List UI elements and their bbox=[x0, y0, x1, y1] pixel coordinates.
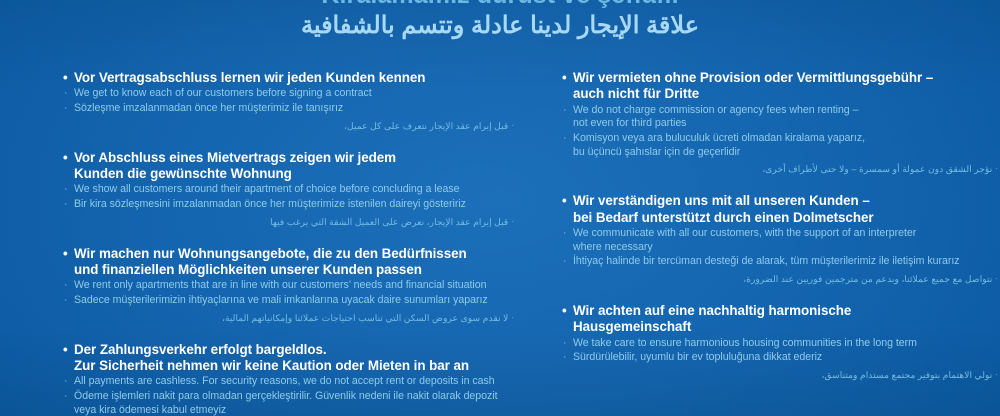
headline-line-1: Wir vermieten ohne Provision oder Vermit… bbox=[573, 70, 933, 85]
bullet-small-icon: · bbox=[64, 294, 68, 308]
arabic-line: نتواصل مع جميع عملائنا، وبدعم من مترجمين… bbox=[743, 274, 992, 284]
bullet-block: • Der Zahlungsverkehr erfolgt bargeldlos… bbox=[62, 342, 516, 416]
content-columns: • Vor Vertragsabschluss lernen wir jeden… bbox=[0, 70, 1000, 416]
english-line-1: We rent only apartments that are in line… bbox=[74, 279, 486, 291]
bullet-small-icon: · bbox=[563, 227, 567, 241]
bullet-subline-turkish: · Komisyon veya ara buluculuk ücreti olm… bbox=[561, 132, 1000, 159]
turkish-line-2: bu üçüncü şahıslar için de geçerlidir bbox=[573, 146, 1000, 160]
bullet-subline-turkish: · Sadece müşterilerimizin ihtiyaçlarına … bbox=[62, 294, 516, 308]
bullet-icon: • bbox=[63, 246, 68, 262]
bullet-small-icon: · bbox=[511, 313, 514, 322]
bullet-small-icon: · bbox=[64, 375, 68, 389]
arabic-line: لا نقدم سوى عروض السكن التي تناسب احتياج… bbox=[222, 313, 508, 323]
turkish-line-2: veya kira ödemesi kabul etmeyiz bbox=[74, 404, 516, 416]
english-line-1: We do not charge commission or agency fe… bbox=[573, 104, 858, 116]
bullet-headline: • Wir machen nur Wohnungsangebote, die z… bbox=[62, 246, 516, 279]
headline-line-1: Vor Abschluss eines Mietvertrags zeigen … bbox=[74, 150, 396, 165]
english-line-1: We communicate with all our customers, w… bbox=[573, 227, 916, 239]
slide-title-arabic: علاقة الإيجار لدينا عادلة وتتسم بالشفافي… bbox=[0, 11, 1000, 41]
headline-line-1: Wir verständigen uns mit all unseren Kun… bbox=[573, 193, 870, 208]
bullet-block: • Vor Vertragsabschluss lernen wir jeden… bbox=[62, 70, 516, 133]
bullet-subline-english: · We get to know each of our customers b… bbox=[62, 87, 516, 101]
bullet-subline-turkish: · İhtiyaç halinde bir tercüman desteği d… bbox=[561, 255, 1000, 269]
bullet-headline: • Wir achten auf eine nachhaltig harmoni… bbox=[561, 303, 1000, 336]
bullet-subline-english: · We do not charge commission or agency … bbox=[561, 104, 1000, 131]
bullet-block: • Vor Abschluss eines Mietvertrags zeige… bbox=[62, 150, 516, 229]
bullet-subline-arabic: ·نؤجر الشقق دون عمولة أو سمسرة – ولا حتى… bbox=[561, 162, 1000, 176]
headline-line-2: Hausgemeinschaft bbox=[573, 319, 1000, 335]
headline-line-1: Vor Vertragsabschluss lernen wir jeden K… bbox=[74, 70, 425, 85]
bullet-small-icon: · bbox=[563, 351, 567, 365]
bullet-subline-arabic: ·نولي الاهتمام بتوفير مجتمع مستدام ومتنا… bbox=[561, 368, 1000, 382]
headline-line-2: auch nicht für Dritte bbox=[573, 86, 1000, 102]
slide-title: Kiralamamız dürüst ve şeffaflı علاقة الإ… bbox=[0, 0, 1000, 41]
presentation-slide: Kiralamamız dürüst ve şeffaflı علاقة الإ… bbox=[0, 0, 1000, 416]
bullet-icon: • bbox=[562, 303, 567, 319]
headline-line-2: Zur Sicherheit nehmen wir keine Kaution … bbox=[74, 358, 516, 374]
bullet-small-icon: · bbox=[563, 104, 567, 118]
bullet-subline-english: · We show all customers around their apa… bbox=[62, 183, 516, 197]
turkish-line-1: Sürdürülebilir, uyumlu bir ev topluluğun… bbox=[573, 351, 822, 363]
bullet-headline: • Vor Vertragsabschluss lernen wir jeden… bbox=[62, 70, 516, 86]
bullet-small-icon: · bbox=[563, 337, 567, 351]
bullet-icon: • bbox=[63, 150, 68, 166]
slide-title-turkish: Kiralamamız dürüst ve şeffaflı bbox=[0, 0, 1000, 9]
turkish-line-1: Bir kira sözleşmesini imzalanmadan önce … bbox=[74, 198, 466, 210]
turkish-line-1: Komisyon veya ara buluculuk ücreti olmad… bbox=[573, 132, 865, 144]
arabic-line: قبل إبرام عقد الإيجار نتعرف على كل عميل، bbox=[344, 121, 508, 131]
arabic-line: نؤجر الشقق دون عمولة أو سمسرة – ولا حتى … bbox=[762, 164, 992, 174]
bullet-subline-arabic: ·قبل إبرام عقد الإيجار، نعرض على العميل … bbox=[62, 215, 516, 229]
bullet-small-icon: · bbox=[64, 198, 68, 212]
bullet-headline: • Wir vermieten ohne Provision oder Verm… bbox=[561, 70, 1000, 103]
bullet-small-icon: · bbox=[511, 217, 514, 226]
bullet-subline-turkish: · Ödeme işlemleri nakit para olmadan ger… bbox=[62, 390, 516, 416]
english-line-1: We show all customers around their apart… bbox=[74, 183, 459, 195]
bullet-subline-turkish: · Sürdürülebilir, uyumlu bir ev topluluğ… bbox=[561, 351, 1000, 365]
bullet-headline: • Vor Abschluss eines Mietvertrags zeige… bbox=[62, 150, 516, 183]
bullet-headline: • Wir verständigen uns mit all unseren K… bbox=[561, 193, 1000, 226]
bullet-small-icon: · bbox=[995, 274, 998, 283]
bullet-small-icon: · bbox=[563, 255, 567, 269]
bullet-icon: • bbox=[63, 342, 68, 358]
english-line-2: where necessary bbox=[573, 241, 1000, 255]
bullet-small-icon: · bbox=[64, 390, 68, 404]
bullet-block: • Wir achten auf eine nachhaltig harmoni… bbox=[561, 303, 1000, 382]
turkish-line-1: İhtiyaç halinde bir tercüman desteği de … bbox=[573, 255, 960, 267]
bullet-small-icon: · bbox=[64, 87, 68, 101]
bullet-subline-english: · All payments are cashless. For securit… bbox=[62, 375, 516, 389]
bullet-subline-turkish: · Sözleşme imzalanmadan önce her müşteri… bbox=[62, 102, 516, 116]
bullet-subline-english: · We take care to ensure harmonious hous… bbox=[561, 337, 1000, 351]
bullet-small-icon: · bbox=[511, 121, 514, 130]
left-column: • Vor Vertragsabschluss lernen wir jeden… bbox=[62, 70, 516, 416]
headline-line-2: Kunden die gewünschte Wohnung bbox=[74, 166, 516, 182]
english-line-1: We get to know each of our customers bef… bbox=[74, 87, 372, 99]
bullet-subline-english: · We rent only apartments that are in li… bbox=[62, 279, 516, 293]
right-column: • Wir vermieten ohne Provision oder Verm… bbox=[561, 70, 1000, 416]
arabic-line: قبل إبرام عقد الإيجار، نعرض على العميل ا… bbox=[270, 217, 508, 227]
bullet-icon: • bbox=[562, 70, 567, 86]
arabic-line: نولي الاهتمام بتوفير مجتمع مستدام ومتناس… bbox=[821, 370, 992, 380]
bullet-subline-turkish: · Bir kira sözleşmesini imzalanmadan önc… bbox=[62, 198, 516, 212]
bullet-small-icon: · bbox=[563, 132, 567, 146]
bullet-small-icon: · bbox=[64, 279, 68, 293]
english-line-1: All payments are cashless. For security … bbox=[74, 375, 495, 387]
headline-line-1: Der Zahlungsverkehr erfolgt bargeldlos. bbox=[74, 342, 327, 357]
bullet-icon: • bbox=[63, 70, 68, 86]
bullet-subline-arabic: ·قبل إبرام عقد الإيجار نتعرف على كل عميل… bbox=[62, 119, 516, 133]
bullet-subline-arabic: ·لا نقدم سوى عروض السكن التي تناسب احتيا… bbox=[62, 311, 516, 325]
bullet-block: • Wir vermieten ohne Provision oder Verm… bbox=[561, 70, 1000, 176]
english-line-1: We take care to ensure harmonious housin… bbox=[573, 337, 917, 349]
bullet-subline-english: · We communicate with all our customers,… bbox=[561, 227, 1000, 254]
headline-line-2: bei Bedarf unterstützt durch einen Dolme… bbox=[573, 210, 1000, 226]
bullet-small-icon: · bbox=[995, 370, 998, 379]
bullet-block: • Wir verständigen uns mit all unseren K… bbox=[561, 193, 1000, 286]
headline-line-2: und finanziellen Möglichkeiten unserer K… bbox=[74, 262, 516, 278]
english-line-2: not even for third parties bbox=[573, 117, 1000, 131]
bullet-small-icon: · bbox=[64, 183, 68, 197]
turkish-line-1: Sözleşme imzalanmadan önce her müşterimi… bbox=[74, 102, 343, 114]
headline-line-1: Wir machen nur Wohnungsangebote, die zu … bbox=[74, 246, 467, 261]
turkish-line-1: Sadece müşterilerimizin ihtiyaçlarına ve… bbox=[74, 294, 488, 306]
bullet-icon: • bbox=[562, 193, 567, 209]
headline-line-1: Wir achten auf eine nachhaltig harmonisc… bbox=[573, 303, 851, 318]
bullet-small-icon: · bbox=[995, 164, 998, 173]
bullet-block: • Wir machen nur Wohnungsangebote, die z… bbox=[62, 246, 516, 325]
turkish-line-1: Ödeme işlemleri nakit para olmadan gerçe… bbox=[74, 390, 498, 402]
bullet-small-icon: · bbox=[64, 102, 68, 116]
bullet-headline: • Der Zahlungsverkehr erfolgt bargeldlos… bbox=[62, 342, 516, 375]
bullet-subline-arabic: ·نتواصل مع جميع عملائنا، وبدعم من مترجمي… bbox=[561, 272, 1000, 286]
